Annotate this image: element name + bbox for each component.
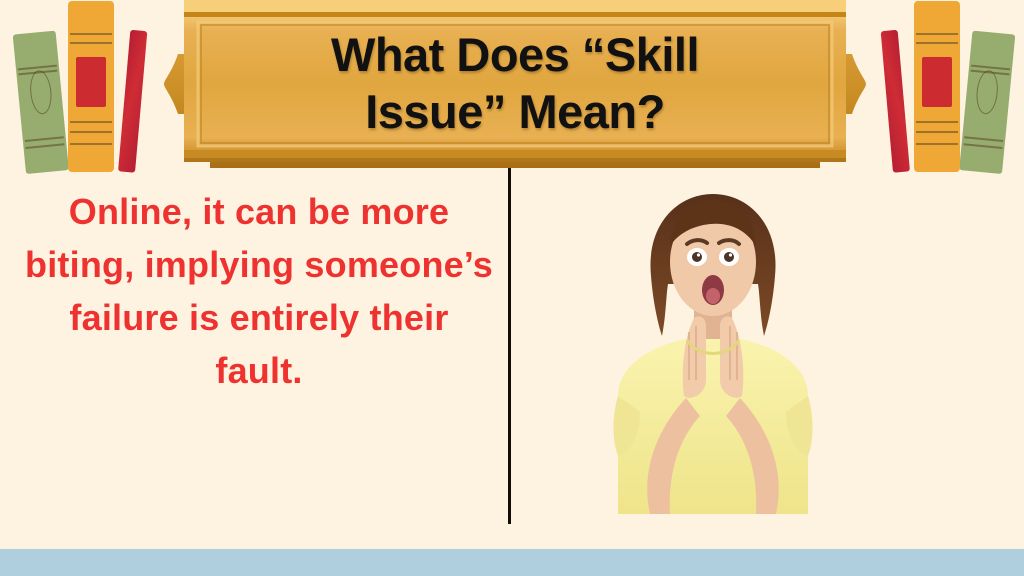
plaque-shape-icon — [164, 0, 866, 168]
title-banner: What Does “Skill Issue” Mean? — [164, 0, 866, 168]
body-text: Online, it can be more biting, implying … — [24, 186, 494, 398]
orange-book-icon — [68, 1, 114, 172]
surprised-woman-illustration-icon — [588, 184, 838, 514]
footer-bar — [0, 549, 1024, 576]
green-book-icon — [959, 31, 1015, 174]
red-book-icon — [118, 30, 147, 173]
surprised-woman-photo — [588, 184, 838, 514]
red-book-icon — [881, 30, 910, 173]
decorative-books-left — [18, 0, 188, 172]
slide-canvas: What Does “Skill Issue” Mean? Online, it… — [0, 0, 1024, 576]
green-book-icon — [13, 31, 69, 174]
vertical-divider — [508, 167, 511, 524]
orange-book-icon — [914, 1, 960, 172]
